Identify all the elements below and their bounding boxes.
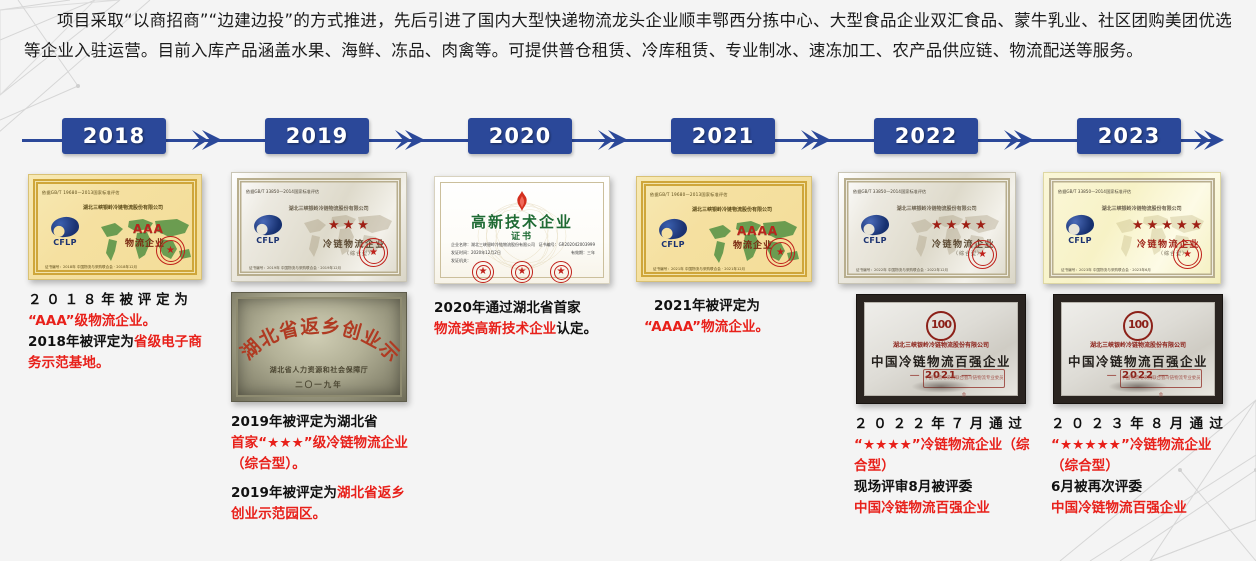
certificate-2021-aaaa-logistics[interactable]: 依据GB/T 19680—2013国家标准评估 湖北三峡银岭冷链物流股份有限公司… <box>636 176 812 282</box>
certificate-grade: AAAA <box>737 224 778 238</box>
cflp-logo-icon: CFLP <box>1062 215 1098 249</box>
cflp-logo-icon: CFLP <box>47 217 83 251</box>
certificate-field-value-2: 有效期：三年 <box>571 249 595 257</box>
certificate-2018-aaa-logistics[interactable]: 依据GB/T 19680—2013国家标准评估 湖北三峡银岭冷链物流股份有限公司… <box>28 174 202 280</box>
cflp-logo-icon: CFLP <box>655 219 691 253</box>
plaque-company-name: 湖北三峡银岭冷链物流股份有限公司 <box>893 340 989 349</box>
timeline-page: 项目采取“以商招商”“边建边投”的方式推进，先后引进了国内大型快递物流龙头企业顺… <box>0 0 1256 561</box>
caption-2018-line2a: 2018年被评定为 <box>28 334 134 350</box>
caption-2021: 2021年被评定为 “AAAA”物流企业。 <box>636 296 814 338</box>
caption-2023-line1: ２０２３年８月通过 <box>1051 414 1223 435</box>
timeline-year-2019[interactable]: 2019 <box>265 118 369 154</box>
column-2019: 依据GB/T 33850—2014国家标准评估 湖北三峡银岭冷链物流股份有限公司… <box>231 172 421 525</box>
top100-logo-icon: 100 <box>926 311 956 341</box>
caption-2020: 2020年通过湖北省首家 物流类高新技术企业认定。 <box>434 298 612 340</box>
caption-2020-line1: 2020年通过湖北省首家 <box>434 300 581 316</box>
certificate-2023-top100-cold-chain[interactable]: 100 湖北三峡银岭冷链物流股份有限公司 中国冷链物流百强企业 — 2022 —… <box>1053 294 1223 404</box>
certificate-2019-three-star-cold-chain[interactable]: 依据GB/T 33850—2014国家标准评估 湖北三峡银岭冷链物流股份有限公司… <box>231 172 407 282</box>
official-seal-icon-3: ★ <box>550 261 572 283</box>
plaque-inner-panel: 100 湖北三峡银岭冷链物流股份有限公司 中国冷链物流百强企业 — 2021 —… <box>864 302 1018 396</box>
certificate-footnote: 证书编号：2022年 中国物流与采购联合会 · 2022年12月 <box>856 267 948 273</box>
caption-2021-line2: “AAAA”物流企业。 <box>644 319 769 335</box>
official-seal-icon: ★ <box>1173 240 1202 269</box>
certificate-company-name: 湖北三峡银岭冷链物流股份有限公司 <box>83 204 163 211</box>
certificate-footnote: 证书编号：2023年 中国物流与采购联合会 · 2023年6月 <box>1061 267 1151 273</box>
caption-2022-line1: ２０２２年７月通过 <box>854 414 1022 435</box>
caption-2018-line1a: ２０１８年被评定为 <box>28 290 188 311</box>
seal-star-icon: ★ <box>776 248 785 258</box>
caption-2019-line2a: 2019年被评定为 <box>231 485 337 501</box>
certificate-footnote: 证书编号：2018年 中国物流与采购联合会 · 2018年12月 <box>45 264 137 270</box>
certificate-field-value-1: 证书编号：GR202042003999 <box>539 241 595 249</box>
caption-2023: ２０２３年８月通过 “★★★★★”冷链物流企业（综合型） 6月被再次评委 中国冷… <box>1051 414 1231 519</box>
timeline-year-2022[interactable]: 2022 <box>874 118 978 154</box>
timeline-bar: 2018 2019 2020 2021 2022 2023 <box>0 118 1256 162</box>
certificate-field-label-3: 发证机关： <box>451 257 471 265</box>
plaque-shadow <box>1108 380 1168 393</box>
caption-2023-line3: 6月被再次评委 <box>1051 479 1142 495</box>
column-2022: 依据GB/T 33850—2014国家标准评估 湖北三峡银岭冷链物流股份有限公司… <box>838 172 1028 519</box>
intro-paragraph: 项目采取“以商招商”“边建边投”的方式推进，先后引进了国内大型快递物流龙头企业顺… <box>0 6 1256 66</box>
plaque-issuer: 湖北省人力资源和社会保障厅 <box>270 365 369 375</box>
column-2021: 依据GB/T 19680—2013国家标准评估 湖北三峡银岭冷链物流股份有限公司… <box>636 176 826 338</box>
official-seal-icon-1: ★ <box>472 261 494 283</box>
plaque-title: 中国冷链物流百强企业 <box>871 351 1011 370</box>
certificate-2019-returning-entrepreneur-park[interactable]: 湖北省返乡创业示范园 湖北省人力资源和社会保障厅 二〇一九年 <box>231 292 407 402</box>
caption-2020-line2: 物流类高新技术企业 <box>434 321 556 337</box>
caption-2023-line4: 中国冷链物流百强企业 <box>1051 500 1187 516</box>
caption-2019-line1a: 2019年被评定为湖北省 <box>231 414 378 430</box>
certificate-standard-line: 依据GB/T 19680—2013国家标准评估 <box>650 192 728 198</box>
caption-2022-line2: “★★★★”冷链物流企业（综合型） <box>854 437 1030 474</box>
plaque-inner-panel: 100 湖北三峡银岭冷链物流股份有限公司 中国冷链物流百强企业 — 2022 —… <box>1061 302 1215 396</box>
plaque-year: 二〇一九年 <box>295 379 343 390</box>
seal-star-icon: ★ <box>166 246 175 256</box>
certificate-standard-line: 依据GB/T 33850—2014国家标准评估 <box>1058 189 1131 195</box>
caption-2018-line1b: “AAA”级物流企业。 <box>28 313 156 329</box>
plaque-shadow <box>911 380 971 393</box>
official-seal-icon-2: ★ <box>511 261 533 283</box>
certificate-standard-line: 依据GB/T 33850—2014国家标准评估 <box>853 189 926 195</box>
official-seal-icon: ★ <box>359 238 388 267</box>
cflp-logo-icon: CFLP <box>250 215 286 249</box>
caption-2022-line4: 中国冷链物流百强企业 <box>854 500 990 516</box>
caption-2018: ２０１８年被评定为 “AAA”级物流企业。 2018年被评定为省级电子商务示范基… <box>28 290 206 374</box>
certificate-seal-group: ★ ★ ★ <box>472 261 572 283</box>
caption-2019-line1b: 首家“★★★”级冷链物流企业（综合型）。 <box>231 435 408 472</box>
certificate-star-rating: ★★★★★ <box>1132 218 1205 233</box>
caption-2021-line1: 2021年被评定为 <box>654 298 760 314</box>
certificate-field-label-2: 发证时间：2020年12月2日 <box>451 249 501 257</box>
flame-emblem-icon <box>514 191 531 211</box>
column-2023: 依据GB/T 33850—2014国家标准评估 湖北三峡银岭冷链物流股份有限公司… <box>1043 172 1243 519</box>
certificate-standard-line: 依据GB/T 19680—2013国家标准评估 <box>42 190 120 196</box>
certificate-footnote: 证书编号：2021年 中国物流与采购联合会 · 2021年12月 <box>653 266 745 272</box>
plaque-arc-text: 湖北省返乡创业示范园 <box>237 311 401 367</box>
column-2020: 高新技术企业 证书 企业名称：湖北三峡银岭冷链物流股份有限公司证书编号：GR20… <box>434 176 624 340</box>
caption-2019: 2019年被评定为湖北省 首家“★★★”级冷链物流企业（综合型）。 2019年被… <box>231 412 417 525</box>
official-seal-icon: ★ <box>766 238 795 267</box>
certificate-company-name: 湖北三峡银岭冷链物流股份有限公司 <box>692 206 772 213</box>
timeline-year-2020[interactable]: 2020 <box>468 118 572 154</box>
caption-2022: ２０２２年７月通过 “★★★★”冷链物流企业（综合型） 现场评审8月被评委 中国… <box>854 414 1030 519</box>
official-seal-icon: ★ <box>156 236 185 265</box>
svg-text:湖北省返乡创业示范园: 湖北省返乡创业示范园 <box>237 311 401 367</box>
certificate-2022-four-star-cold-chain[interactable]: 依据GB/T 33850—2014国家标准评估 湖北三峡银岭冷链物流股份有限公司… <box>838 172 1016 284</box>
plaque-company-name: 湖北三峡银岭冷链物流股份有限公司 <box>1090 340 1186 349</box>
certificate-star-rating: ★★★ <box>328 218 372 233</box>
certificate-2022-top100-cold-chain[interactable]: 100 湖北三峡银岭冷链物流股份有限公司 中国冷链物流百强企业 — 2021 —… <box>856 294 1026 404</box>
certificate-grade: AAA <box>133 222 164 236</box>
column-2018: 依据GB/T 19680—2013国家标准评估 湖北三峡银岭冷链物流股份有限公司… <box>28 174 214 374</box>
caption-2020-line3: 认定。 <box>556 321 597 337</box>
official-seal-icon: ★ <box>968 240 997 269</box>
top100-logo-icon: 100 <box>1123 311 1153 341</box>
certificate-2020-high-tech-enterprise[interactable]: 高新技术企业 证书 企业名称：湖北三峡银岭冷链物流股份有限公司证书编号：GR20… <box>434 176 610 284</box>
cflp-logo-icon: CFLP <box>857 215 893 249</box>
plaque-title: 中国冷链物流百强企业 <box>1068 351 1208 370</box>
certificate-footnote: 证书编号：2019年 中国物流与采购联合会 · 2019年12月 <box>249 265 341 271</box>
certificate-2023-five-star-cold-chain[interactable]: 依据GB/T 33850—2014国家标准评估 湖北三峡银岭冷链物流股份有限公司… <box>1043 172 1221 284</box>
timeline-year-2018[interactable]: 2018 <box>62 118 166 154</box>
caption-2022-line3: 现场评审8月被评委 <box>854 479 972 495</box>
certificate-field-label-1: 企业名称：湖北三峡银岭冷链物流股份有限公司 <box>451 241 535 249</box>
plaque-arc-title: 湖北省返乡创业示范园 <box>237 311 401 371</box>
certificate-standard-line: 依据GB/T 33850—2014国家标准评估 <box>246 189 319 195</box>
caption-2023-line2: “★★★★★”冷链物流企业（综合型） <box>1051 437 1212 474</box>
timeline-year-2023[interactable]: 2023 <box>1077 118 1181 154</box>
timeline-year-2021[interactable]: 2021 <box>671 118 775 154</box>
certificate-star-rating: ★★★★ <box>931 218 990 233</box>
